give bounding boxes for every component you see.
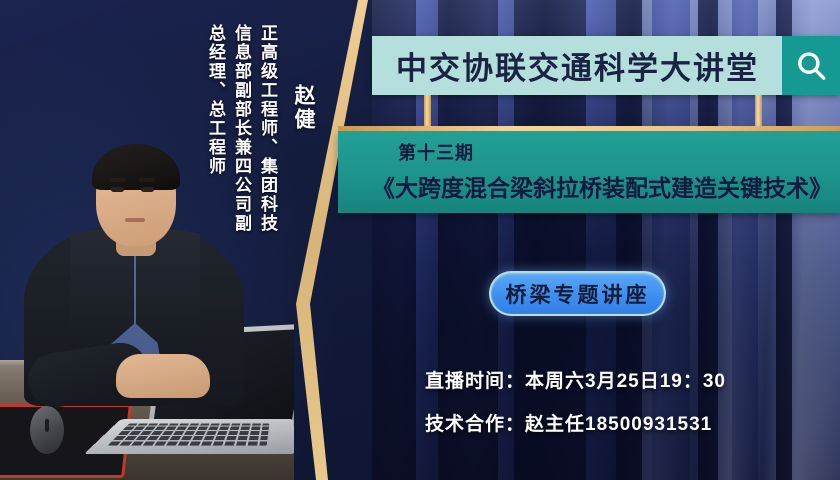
speaker-title-line-3: 总经理、总工程师 [203,24,228,176]
eyebrow-right [139,178,155,182]
broadcast-time: 直播时间：本周六3月25日19：30 [425,366,726,393]
clasped-hands [116,354,210,398]
hair [92,144,180,190]
program-title: 中交协联交通科学大讲堂 [372,36,782,95]
mouth [125,218,145,222]
eyebrow-left [109,178,125,182]
speaker-name: 赵健 [288,84,318,132]
live-stream-poster: 赵健 正高级工程师、集团科技 信息部副部长兼四公司副 总经理、总工程师 中交协联… [0,0,840,480]
computer-mouse [30,406,64,454]
speaker-title-line-1: 正高级工程师、集团科技 [255,24,280,233]
laptop-keyboard [108,424,270,446]
eye-right [141,187,154,192]
program-title-banner: 中交协联交通科学大讲堂 [372,36,840,95]
episode-banner: 第十三期 《大跨度混合梁斜拉桥装配式建造关键技术》 [338,131,840,213]
episode-topic: 《大跨度混合梁斜拉桥装配式建造关键技术》 [372,169,830,203]
search-icon[interactable] [782,36,840,95]
episode-number: 第十三期 [372,139,830,165]
contact-info: 技术合作：赵主任18500931531 [425,409,712,436]
category-badge[interactable]: 桥梁专题讲座 [489,271,666,316]
laptop-base [84,419,294,454]
eye-left [111,187,124,192]
speaker-title-line-2: 信息部副部长兼四公司副 [229,24,254,233]
